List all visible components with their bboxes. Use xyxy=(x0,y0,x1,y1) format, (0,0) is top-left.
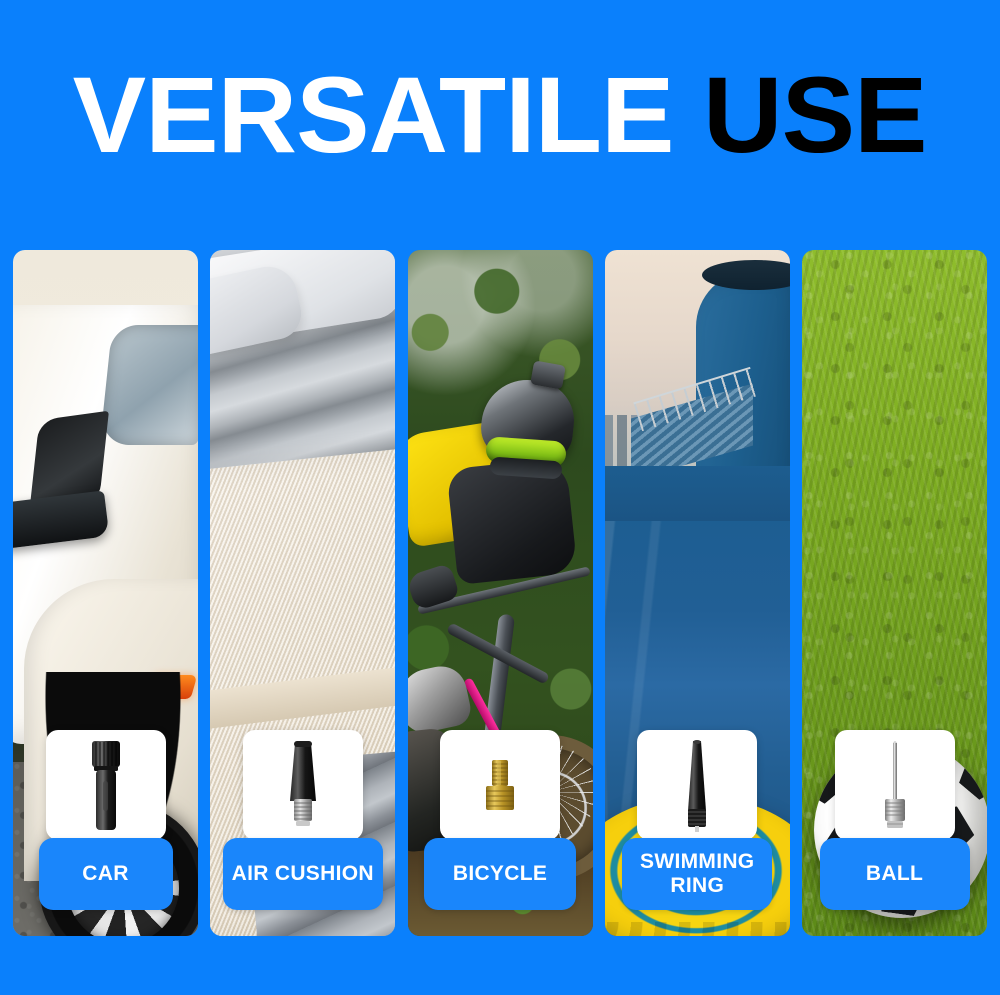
title-word-use: USE xyxy=(674,54,927,175)
nozzle-card-ball xyxy=(835,730,955,840)
use-case-panel-row: CAR xyxy=(13,250,987,936)
label-card-swimming-ring[interactable]: SWIMMING RING xyxy=(622,838,772,910)
panel-label-air-cushion: AIR CUSHION xyxy=(232,862,374,886)
panel-swimming-ring[interactable]: SWIMMING RING xyxy=(605,250,790,936)
panel-air-cushion[interactable]: AIR CUSHION xyxy=(210,250,395,936)
panel-car[interactable]: CAR xyxy=(13,250,198,936)
label-card-bicycle[interactable]: BICYCLE xyxy=(424,838,576,910)
ball-needle-nozzle-icon xyxy=(874,737,916,833)
nozzle-card-car xyxy=(46,730,166,840)
nozzle-card-air-cushion xyxy=(243,730,363,840)
page-title: VERSATILE USE xyxy=(73,61,927,169)
panel-label-ball: BALL xyxy=(866,862,923,886)
panel-ball[interactable]: adidas xyxy=(802,250,987,936)
label-card-car[interactable]: CAR xyxy=(39,838,173,910)
panel-bicycle[interactable]: BICYCLE xyxy=(408,250,593,936)
car-valve-adapter-icon xyxy=(76,737,136,833)
air-cushion-cone-nozzle-icon xyxy=(276,737,330,833)
bicycle-presta-brass-adapter-icon xyxy=(473,750,527,820)
label-card-air-cushion[interactable]: AIR CUSHION xyxy=(223,838,383,910)
label-card-ball[interactable]: BALL xyxy=(820,838,970,910)
panel-label-bicycle: BICYCLE xyxy=(453,862,547,886)
panel-label-swimming-ring: SWIMMING RING xyxy=(640,850,754,897)
panel-label-car: CAR xyxy=(82,862,128,886)
swimming-ring-long-cone-nozzle-icon xyxy=(674,737,720,833)
nozzle-card-bicycle xyxy=(440,730,560,840)
page-header: VERSATILE USE xyxy=(0,0,1000,230)
title-word-versatile: VERSATILE xyxy=(73,54,674,175)
nozzle-card-swimming-ring xyxy=(637,730,757,840)
